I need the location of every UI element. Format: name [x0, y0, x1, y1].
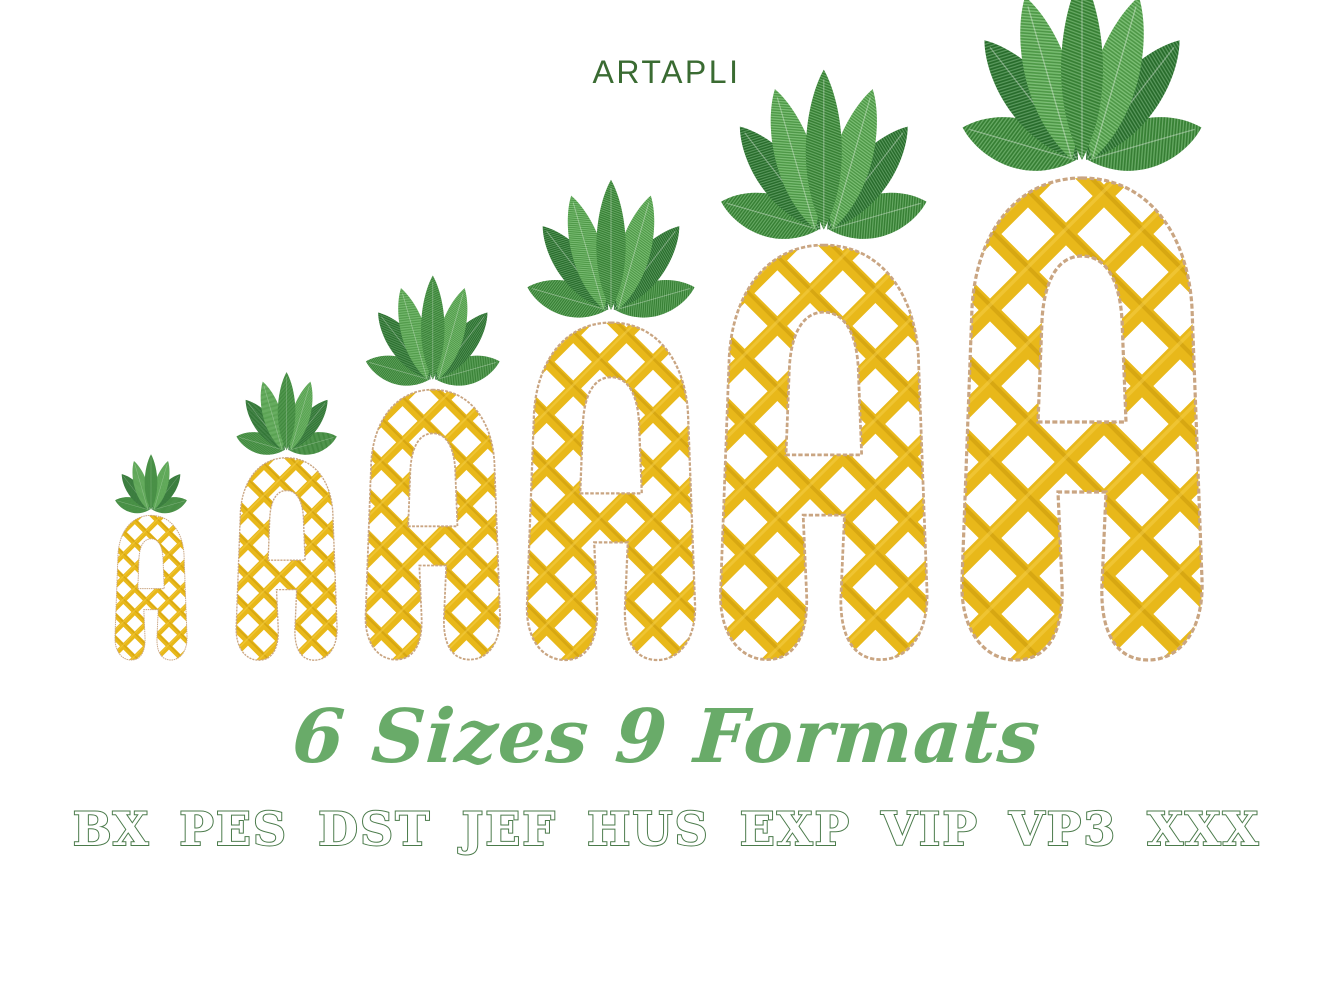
- counter-outline-stitch: [1038, 256, 1126, 422]
- format-chip-dst: DST: [318, 806, 431, 852]
- pineapple-size-2: [232, 425, 341, 660]
- pineapple-size-5: [712, 178, 936, 660]
- tagline-formats: 9 Formats: [612, 694, 1043, 780]
- format-chip-hus: HUS: [587, 806, 710, 852]
- tagline-sizes: 6 Sizes: [290, 694, 593, 780]
- tagline: 6 Sizes 9 Formats: [0, 694, 1333, 780]
- format-list: BXPESDSTJEFHUSEXPVIPVP3XXX: [0, 806, 1333, 852]
- format-chip-pes: PES: [179, 806, 288, 852]
- format-chip-xxx: XXX: [1147, 806, 1260, 852]
- pineapple-size-row: [0, 80, 1333, 660]
- counter-outline-stitch: [786, 313, 862, 456]
- pineapple-size-3: [360, 346, 506, 660]
- pineapple-size-4: [520, 268, 702, 660]
- pineapple-size-1: [112, 492, 190, 660]
- counter-outline-stitch: [138, 539, 164, 589]
- format-chip-bx: BX: [73, 806, 150, 852]
- counter-outline-stitch: [408, 434, 457, 527]
- format-chip-jef: JEF: [461, 806, 556, 852]
- format-chip-vp3: VP3: [1009, 806, 1117, 852]
- format-chip-vip: VIP: [881, 806, 979, 852]
- pineapple-size-6: [952, 100, 1212, 660]
- format-chip-exp: EXP: [740, 806, 851, 852]
- counter-outline-stitch: [580, 377, 642, 493]
- counter-outline-stitch: [268, 490, 305, 560]
